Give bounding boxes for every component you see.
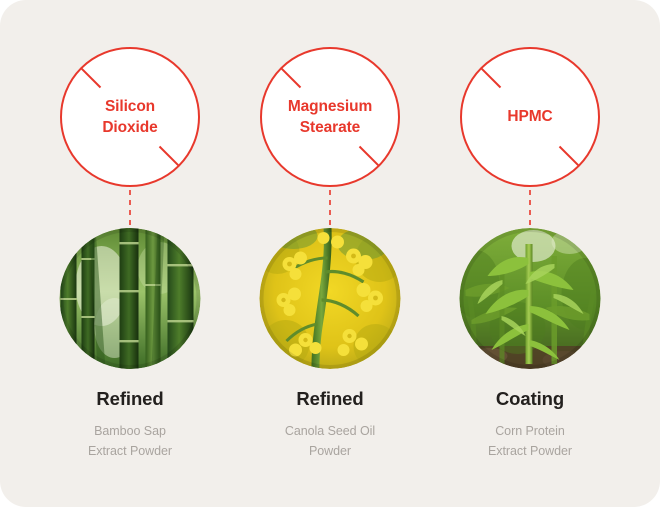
caption-subtitle-line2: Extract Powder bbox=[30, 442, 230, 461]
ingredient-badge: Silicon Dioxide bbox=[59, 46, 201, 188]
badge-circle-icon bbox=[59, 46, 201, 188]
caption-block: Refined Canola Seed Oil Powder bbox=[230, 388, 430, 461]
ingredient-badge: Magnesium Stearate bbox=[259, 46, 401, 188]
caption-subtitle-line2: Extract Powder bbox=[430, 442, 630, 461]
dashed-connector bbox=[529, 190, 531, 228]
bamboo-forest-photo-icon bbox=[60, 228, 201, 369]
caption-subtitle-line1: Corn Protein bbox=[430, 422, 630, 441]
ingredient-column: HPMC bbox=[430, 0, 630, 507]
caption-title: Coating bbox=[430, 388, 630, 410]
canola-flower-photo-icon bbox=[260, 228, 401, 369]
dashed-connector bbox=[329, 190, 331, 228]
ingredient-column: Magnesium Stearate bbox=[230, 0, 430, 507]
ingredient-badge: HPMC bbox=[459, 46, 601, 188]
badge-circle-icon bbox=[459, 46, 601, 188]
source-photo bbox=[260, 228, 401, 369]
caption-subtitle-line1: Canola Seed Oil bbox=[230, 422, 430, 441]
badge-circle-icon bbox=[259, 46, 401, 188]
source-photo bbox=[60, 228, 201, 369]
caption-block: Refined Bamboo Sap Extract Powder bbox=[30, 388, 230, 461]
caption-subtitle: Canola Seed Oil Powder bbox=[230, 422, 430, 461]
caption-block: Coating Corn Protein Extract Powder bbox=[430, 388, 630, 461]
caption-title: Refined bbox=[230, 388, 430, 410]
caption-title: Refined bbox=[30, 388, 230, 410]
caption-subtitle: Corn Protein Extract Powder bbox=[430, 422, 630, 461]
caption-subtitle-line1: Bamboo Sap bbox=[30, 422, 230, 441]
dashed-connector bbox=[129, 190, 131, 228]
caption-subtitle-line2: Powder bbox=[230, 442, 430, 461]
caption-subtitle: Bamboo Sap Extract Powder bbox=[30, 422, 230, 461]
source-photo bbox=[460, 228, 601, 369]
ingredient-columns: Silicon Dioxide bbox=[0, 0, 660, 507]
corn-seedling-photo-icon bbox=[460, 228, 601, 369]
ingredient-column: Silicon Dioxide bbox=[30, 0, 230, 507]
infographic-card: Silicon Dioxide bbox=[0, 0, 660, 507]
